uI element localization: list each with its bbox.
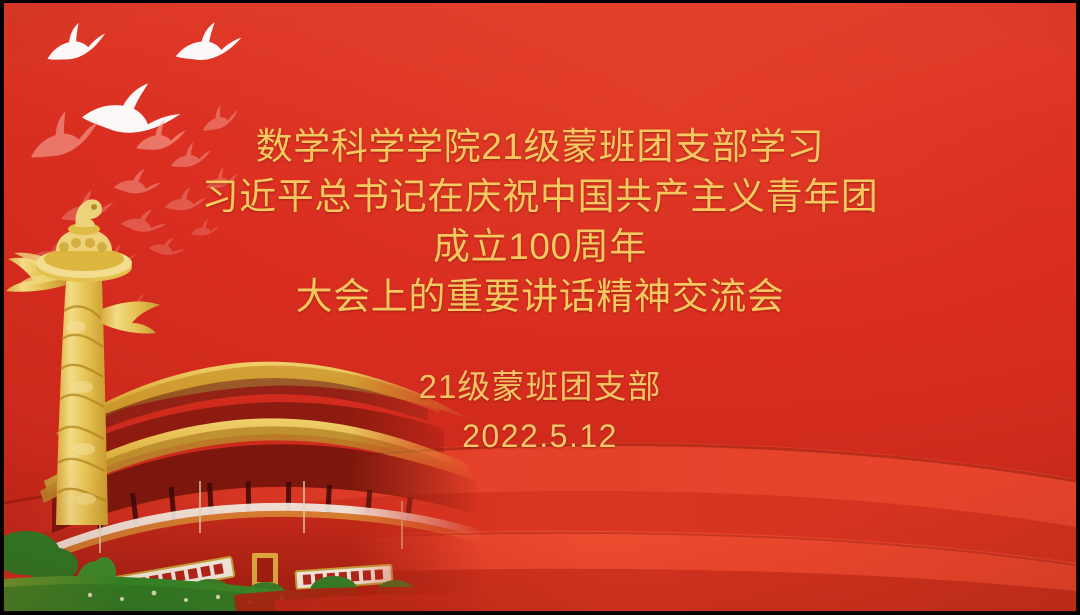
title-line-1: 数学科学学院21级蒙班团支部学习	[0, 122, 1080, 172]
date-label: 2022.5.12	[0, 412, 1080, 460]
poster-canvas: 数学科学学院21级蒙班团支部学习 习近平总书记在庆祝中国共产主义青年团 成立10…	[0, 0, 1080, 615]
title-line-4: 大会上的重要讲话精神交流会	[0, 272, 1080, 322]
title-line-3: 成立100周年	[0, 222, 1080, 272]
title-line-2: 习近平总书记在庆祝中国共产主义青年团	[0, 172, 1080, 222]
poster-title: 数学科学学院21级蒙班团支部学习 习近平总书记在庆祝中国共产主义青年团 成立10…	[0, 122, 1080, 322]
organization-label: 21级蒙班团支部	[0, 362, 1080, 412]
poster-subtitle: 21级蒙班团支部 2022.5.12	[0, 362, 1080, 460]
